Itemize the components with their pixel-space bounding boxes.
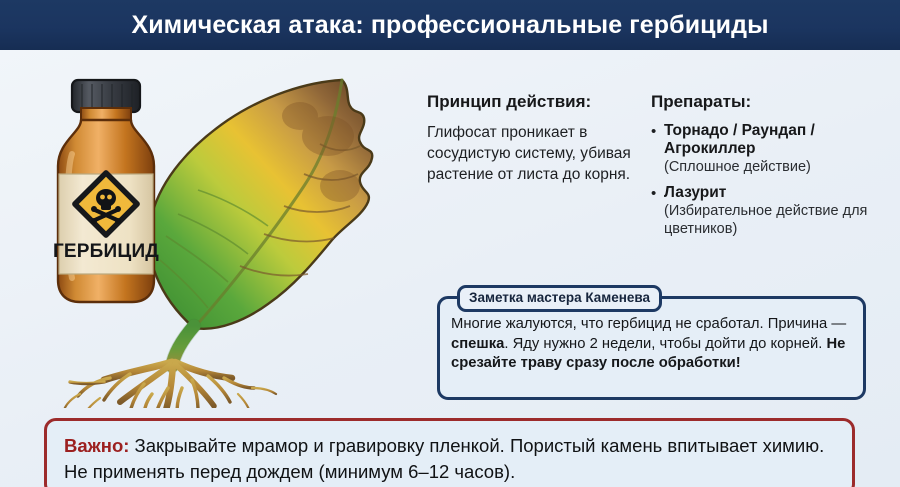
product-note: (Сплошное действие): [664, 159, 895, 177]
bottle-label-text: ГЕРБИЦИД: [53, 241, 159, 262]
important-warning-text: Важно: Закрывайте мрамор и гравировку пл…: [64, 433, 844, 486]
list-item: • Торнадо / Раундап / Агрокиллер (Сплошн…: [651, 122, 895, 178]
important-label: Важно:: [64, 435, 129, 456]
principle-body: Глифосат проникает в сосудистую систему,…: [427, 122, 642, 186]
herbicide-bottle: ГЕРБИЦИД: [53, 80, 159, 302]
important-body: Закрывайте мрамор и гравировку пленкой. …: [64, 435, 824, 482]
header-bar: Химическая атака: профессиональные герби…: [0, 0, 900, 50]
products-heading: Препараты:: [651, 92, 895, 112]
principle-column: Принцип действия: Глифосат проникает в с…: [427, 92, 642, 186]
product-name: Лазурит: [664, 184, 895, 203]
illustration-svg: ГЕРБИЦИД: [32, 58, 432, 408]
important-warning-box: Важно: Закрывайте мрамор и гравировку пл…: [44, 418, 855, 487]
bullet-icon: •: [651, 122, 656, 142]
master-note-text: Многие жалуются, что гербицид не сработа…: [451, 315, 857, 374]
illustration-area: ГЕРБИЦИД: [32, 58, 432, 408]
master-note-tab: Заметка мастера Каменева: [457, 285, 662, 312]
product-note: (Избирательное действие для цветников): [664, 203, 895, 238]
leaf-blade: [148, 80, 372, 329]
products-list: • Торнадо / Раундап / Агрокиллер (Сплошн…: [651, 122, 895, 239]
list-item: • Лазурит (Избирательное действие для цв…: [651, 184, 895, 238]
products-column: Препараты: • Торнадо / Раундап / Агрокил…: [651, 92, 895, 238]
root-system: [64, 362, 276, 408]
master-note-box: Заметка мастера Каменева Многие жалуются…: [437, 296, 866, 400]
principle-heading: Принцип действия:: [427, 92, 642, 112]
bullet-icon: •: [651, 184, 656, 204]
page-title: Химическая атака: профессиональные герби…: [131, 13, 768, 38]
product-name: Торнадо / Раундап / Агрокиллер: [664, 122, 895, 160]
infographic-page: Химическая атака: профессиональные герби…: [0, 0, 900, 487]
leaf-illustration: [148, 80, 372, 329]
